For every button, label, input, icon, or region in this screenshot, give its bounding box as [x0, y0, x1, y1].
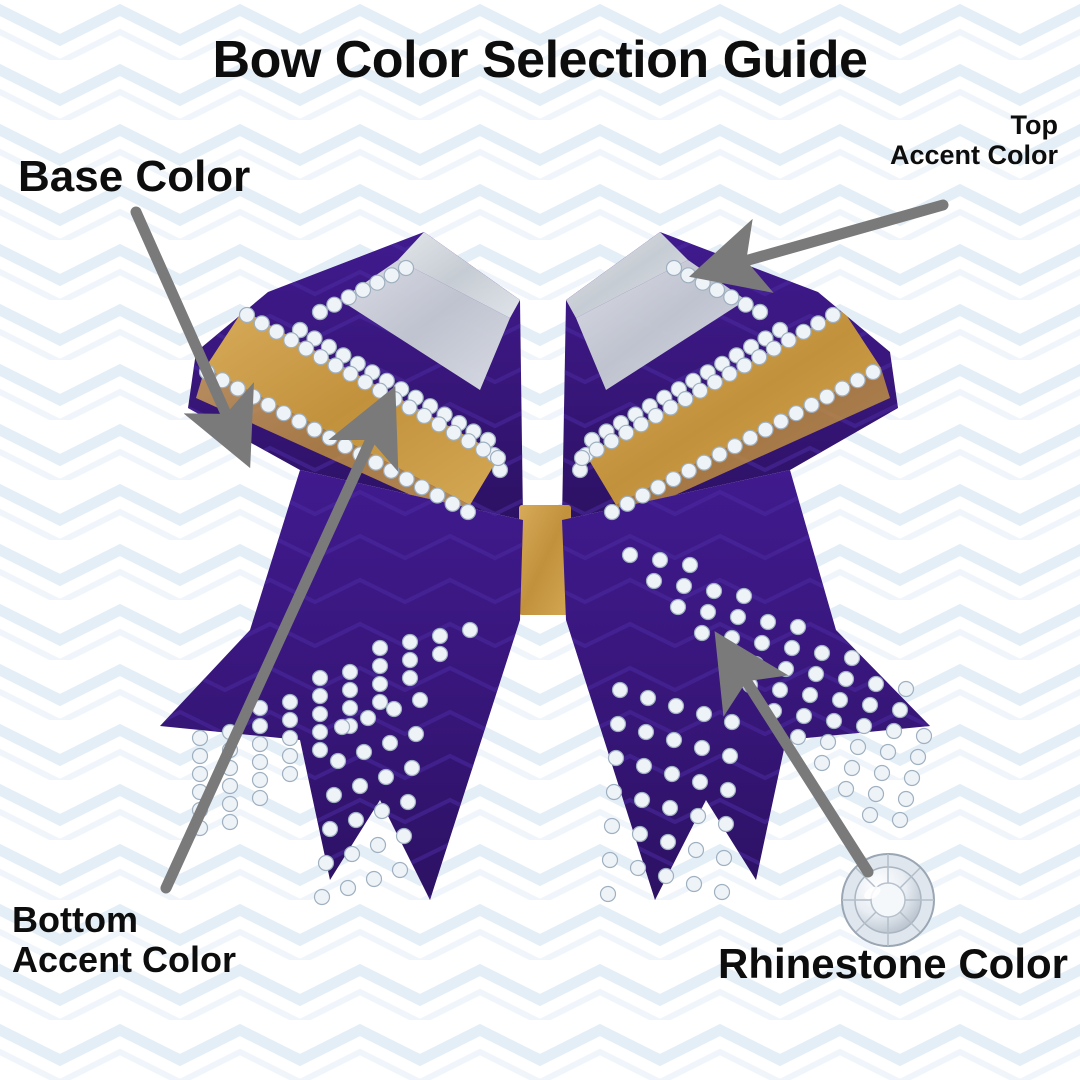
arrow-rhinestone-color [724, 646, 868, 872]
page-title: Bow Color Selection Guide [0, 30, 1080, 90]
label-bottom-accent-color: Bottom Accent Color [12, 900, 236, 981]
bow-color-guide-graphic: Bow Color Selection Guide [0, 0, 1080, 1080]
label-rhinestone-color: Rhinestone Color [718, 940, 1068, 987]
label-base-color: Base Color [18, 152, 250, 201]
arrow-bottom-accent-color [166, 402, 388, 888]
arrow-base-color [136, 212, 243, 452]
arrow-top-accent-color [706, 205, 943, 272]
label-top-accent-color: Top Accent Color [890, 110, 1058, 170]
